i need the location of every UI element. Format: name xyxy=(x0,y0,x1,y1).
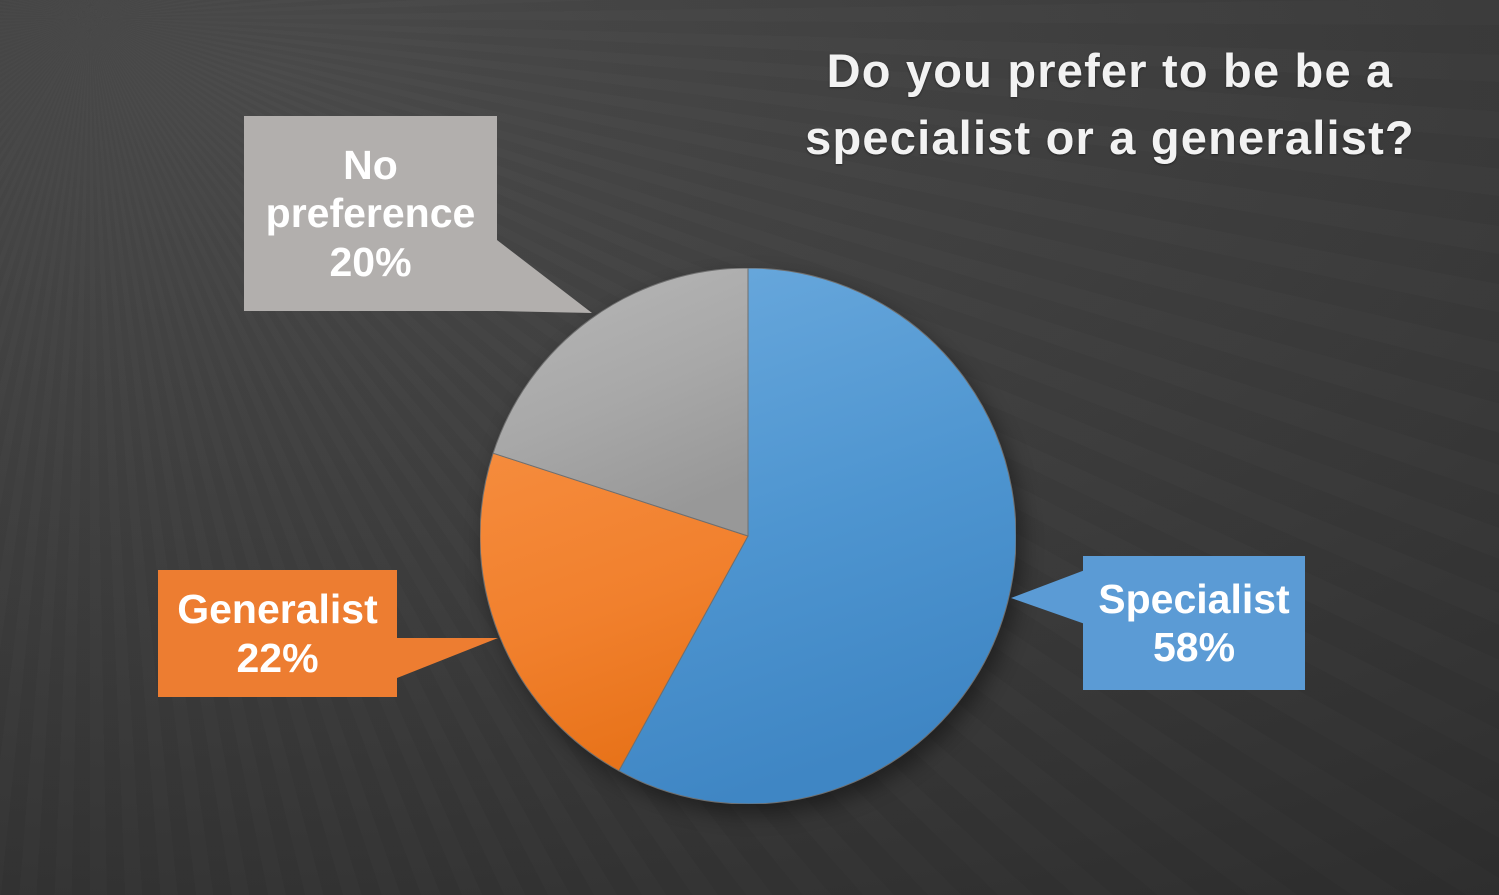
slide-canvas: Do you prefer to be be a specialist or a… xyxy=(0,0,1499,895)
callout-generalist-percent: 22% xyxy=(236,634,318,682)
chart-title-line-2: specialist or a generalist? xyxy=(805,111,1415,164)
callout-no-preference-percent: 20% xyxy=(329,238,411,286)
pie-chart[interactable] xyxy=(480,268,1016,804)
callout-tail-specialist xyxy=(1005,560,1095,650)
callout-tail-no-preference xyxy=(480,230,610,330)
chart-title-line-1: Do you prefer to be be a xyxy=(827,44,1394,97)
callout-specialist-label: Specialist xyxy=(1098,575,1289,623)
pie-svg xyxy=(480,268,1016,804)
callout-specialist[interactable]: Specialist 58% xyxy=(1083,556,1305,690)
callout-no-preference[interactable]: No preference 20% xyxy=(244,116,497,311)
callout-no-preference-line-2: preference xyxy=(266,189,476,237)
callout-no-preference-line-1: No xyxy=(343,141,398,189)
callout-generalist-label: Generalist xyxy=(177,585,378,633)
callout-tail-generalist xyxy=(390,620,510,700)
chart-title: Do you prefer to be be a specialist or a… xyxy=(740,38,1480,171)
callout-generalist[interactable]: Generalist 22% xyxy=(158,570,397,697)
callout-specialist-percent: 58% xyxy=(1153,623,1235,671)
